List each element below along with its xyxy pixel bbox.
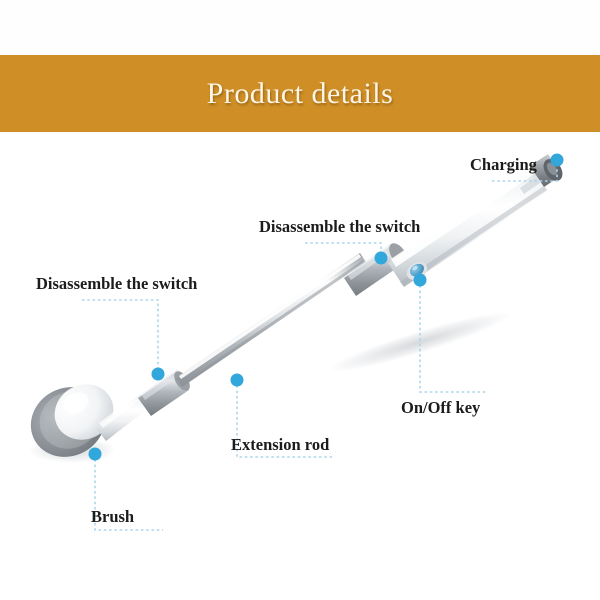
handle-shadow [326, 304, 514, 381]
product-illustration-svg [0, 132, 600, 600]
product-diagram [0, 132, 600, 600]
callout-dot-extension-rod [231, 374, 244, 387]
product-body [18, 154, 566, 470]
product-details-page: Product details [0, 0, 600, 600]
callout-label-switch-right: Disassemble the switch [259, 219, 420, 236]
callout-line-switch-left [82, 300, 158, 374]
callout-dot-onoff-key [414, 274, 427, 287]
callout-dot-switch-left [152, 368, 165, 381]
callout-line-switch-right [305, 243, 381, 258]
callout-dot-charging [551, 154, 564, 167]
page-title: Product details [207, 77, 394, 111]
callout-label-switch-left: Disassemble the switch [36, 276, 197, 293]
callout-label-onoff-key: On/Off key [401, 400, 480, 417]
callout-dot-brush [89, 448, 102, 461]
header-banner: Product details [0, 55, 600, 132]
callout-label-brush: Brush [91, 509, 134, 526]
callout-dot-switch-right [375, 252, 388, 265]
callout-label-charging: Charging [470, 157, 537, 174]
callout-label-extension-rod: Extension rod [231, 437, 329, 454]
